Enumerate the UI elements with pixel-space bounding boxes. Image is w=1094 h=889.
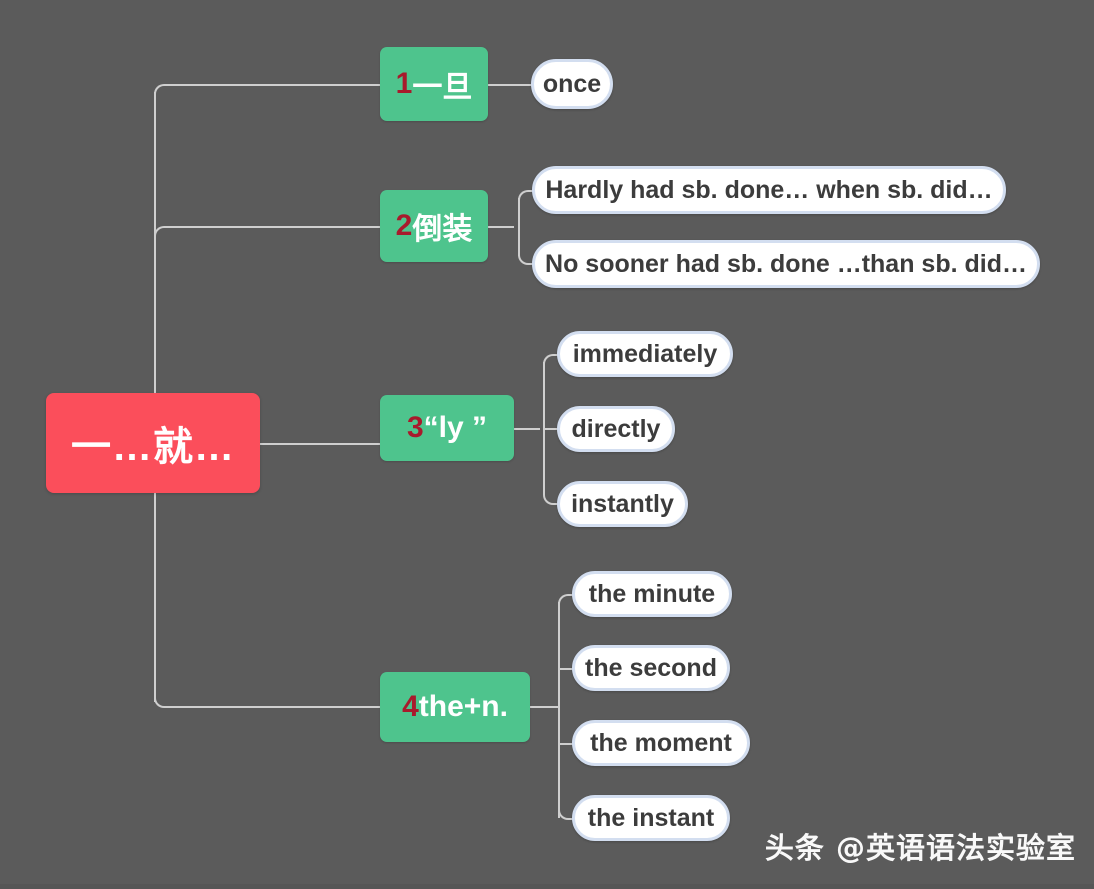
- leaf-once-label: once: [543, 70, 601, 99]
- connector-elbow-b4-c1: [558, 594, 572, 608]
- leaf-immediately[interactable]: immediately: [557, 331, 733, 377]
- leaf-directly[interactable]: directly: [557, 406, 675, 452]
- leaf-the-moment-label: the moment: [590, 729, 732, 758]
- branch-node-1-index: 1: [396, 67, 413, 101]
- leaf-the-instant-label: the instant: [588, 804, 714, 833]
- mindmap-canvas: 一…就… 1一旦 once 2倒装 Hardly had sb. done… w…: [0, 0, 1094, 889]
- branch-node-4-title: the+n.: [419, 690, 508, 724]
- leaf-no-sooner-label: No sooner had sb. done …than sb. did…: [545, 250, 1027, 279]
- branch-node-3-index: 3: [407, 411, 424, 445]
- connector-stub-branch-4: [530, 706, 558, 708]
- connector-h-branch-1: [166, 84, 382, 86]
- branch-node-1[interactable]: 1一旦: [380, 47, 488, 121]
- branch-node-3[interactable]: 3 “ly ”: [380, 395, 514, 461]
- bottom-edge-strip: [0, 884, 1094, 889]
- leaf-the-second-label: the second: [585, 654, 717, 683]
- branch-node-4-index: 4: [402, 690, 419, 724]
- leaf-instantly-label: instantly: [571, 490, 674, 519]
- connector-spine-branch-2: [518, 198, 520, 256]
- connector-leaf-once: [488, 84, 534, 86]
- connector-h-branch-4: [166, 706, 382, 708]
- branch-node-2-title: 倒装: [412, 204, 472, 248]
- connector-elbow-branch-1: [154, 84, 168, 98]
- leaf-the-moment[interactable]: the moment: [572, 720, 750, 766]
- leaf-once[interactable]: once: [531, 59, 613, 109]
- leaf-the-minute-label: the minute: [589, 580, 715, 609]
- branch-node-4[interactable]: 4the+n.: [380, 672, 530, 742]
- watermark: 头条 @英语语法实验室: [765, 825, 1076, 867]
- connector-elbow-b3-c1: [543, 354, 557, 368]
- leaf-hardly[interactable]: Hardly had sb. done… when sb. did…: [532, 166, 1006, 214]
- connector-h-branch-2: [166, 226, 382, 228]
- branch-node-2-index: 2: [396, 209, 413, 243]
- branch-node-1-title: 一旦: [412, 62, 472, 106]
- connector-stub-branch-2: [488, 226, 514, 228]
- branch-node-3-title: “ly ”: [424, 411, 487, 445]
- leaf-directly-label: directly: [572, 415, 661, 444]
- connector-elbow-b2-c1: [518, 190, 532, 204]
- leaf-no-sooner[interactable]: No sooner had sb. done …than sb. did…: [532, 240, 1040, 288]
- leaf-the-second[interactable]: the second: [572, 645, 730, 691]
- connector-elbow-branch-2: [154, 226, 168, 240]
- leaf-immediately-label: immediately: [573, 340, 718, 369]
- connector-spine-branch-3: [543, 362, 545, 492]
- connector-spine-branch-4: [558, 602, 560, 818]
- root-node-label: 一…就…: [71, 414, 235, 472]
- leaf-the-minute[interactable]: the minute: [572, 571, 732, 617]
- branch-node-2[interactable]: 2倒装: [380, 190, 488, 262]
- root-node[interactable]: 一…就…: [46, 393, 260, 493]
- leaf-the-instant[interactable]: the instant: [572, 795, 730, 841]
- leaf-hardly-label: Hardly had sb. done… when sb. did…: [545, 176, 992, 205]
- connector-stub-branch-3: [514, 428, 540, 430]
- leaf-instantly[interactable]: instantly: [557, 481, 688, 527]
